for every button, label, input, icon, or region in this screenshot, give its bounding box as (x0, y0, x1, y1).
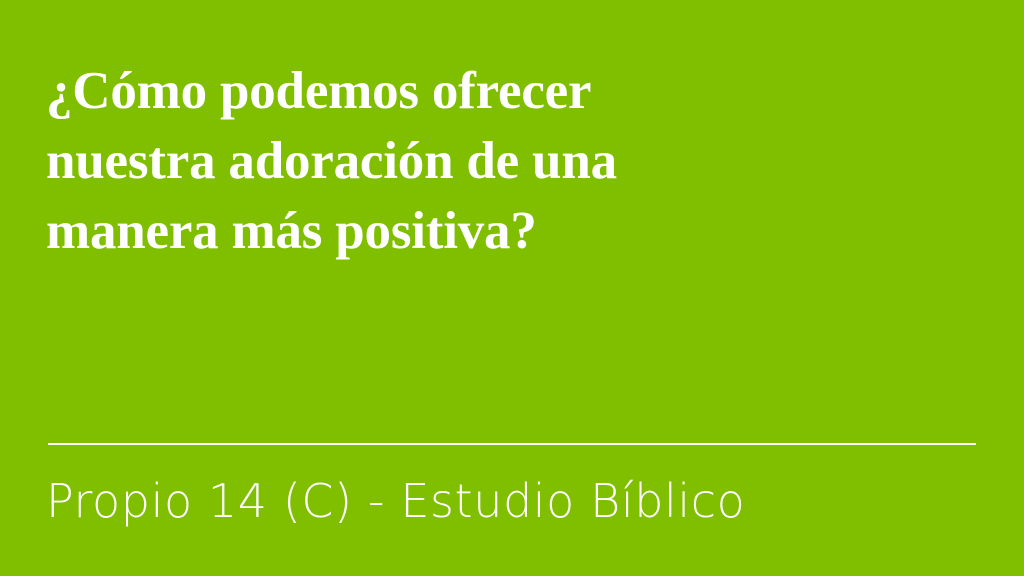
horizontal-divider (48, 443, 976, 445)
title-line-3: manera más positiva? (46, 196, 846, 266)
slide-title: ¿Cómo podemos ofrecer nuestra adoración … (46, 56, 846, 266)
title-line-2: nuestra adoración de una (46, 126, 846, 196)
slide-subtitle: Propio 14 (C) - Estudio Bíblico (46, 472, 745, 530)
title-line-1: ¿Cómo podemos ofrecer (46, 56, 846, 126)
slide-canvas: ¿Cómo podemos ofrecer nuestra adoración … (0, 0, 1024, 576)
